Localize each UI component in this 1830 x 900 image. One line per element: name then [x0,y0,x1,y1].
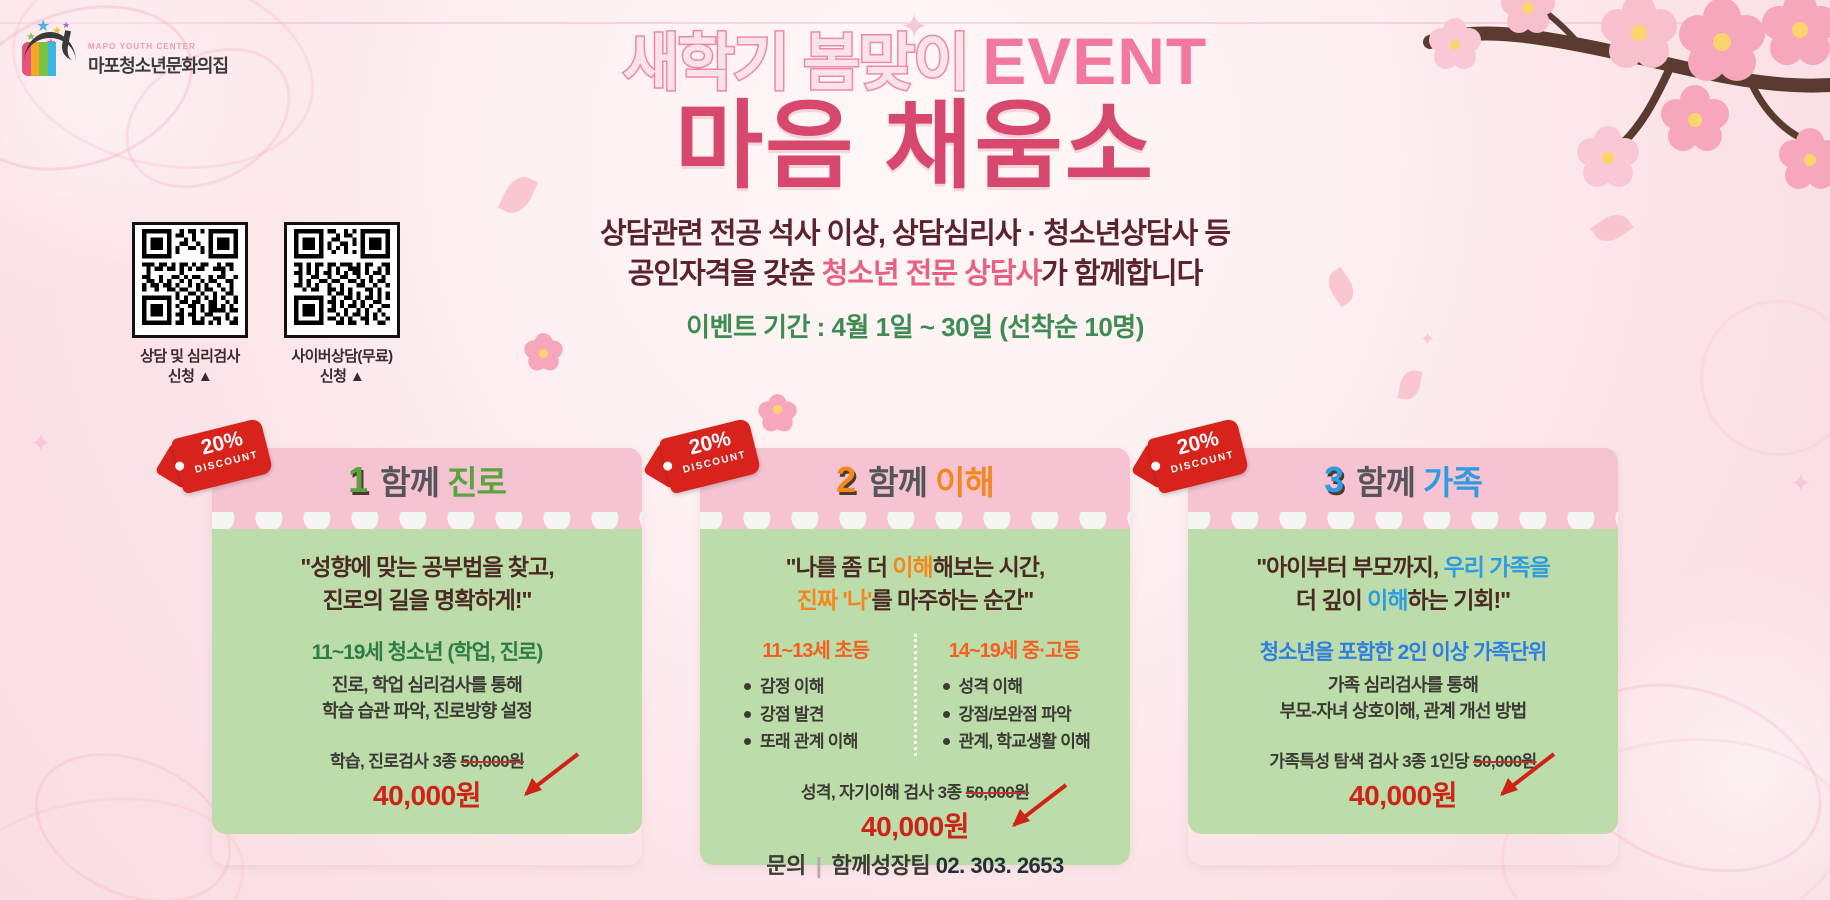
scallop-divider [1188,512,1618,529]
qr-code-block: 상담 및 심리검사 신청 ▲ [130,222,402,388]
card-title: 함께 진로 [380,456,506,504]
list-item: 관계, 학교생활 이해 [943,728,1109,756]
card-price-old: 50,000원 [966,783,1029,802]
card-quote-line1: "나를 좀 더 이해해보는 시간, [718,551,1112,584]
age-group-list: 성격 이해 강점/보완점 파악 관계, 학교생활 이해 [921,673,1109,756]
poster-root: ✦ ✦ ✦ ✦ [0,0,1830,900]
headline-event: EVENT [982,24,1207,98]
footer-separator: | [816,853,822,878]
card-target: 청소년을 포함한 2인 이상 가족단위 [1206,636,1600,666]
list-item: 강점 발견 [744,701,910,729]
list-item: 강점/보완점 파악 [943,701,1109,729]
card-price-new: 40,000원 [230,774,624,814]
footer-team: 함께성장팀 [831,853,930,878]
card-title-plain: 함께 [868,464,935,501]
cherry-blossom-icon [760,392,794,426]
subtitle-line2-post: 가 함께합니다 [1041,258,1202,290]
quote-part-b: 해보는 시간, [933,554,1045,580]
quote-part-a: "아이부터 부모까지, [1256,554,1443,580]
scallop-divider [700,512,1130,529]
card-price-old-row: 성격, 자기이해 검사 3종 50,000원 [718,778,1112,803]
card-number: 1 [348,462,368,498]
card-desc-line1: 가족 심리검사를 통해 [1206,672,1600,698]
qr-code-icon[interactable] [132,222,248,338]
card-description: 진로, 학업 심리검사를 통해 학습 습관 파악, 진로방향 설정 [230,672,624,724]
card-desc-line2: 학습 습관 파악, 진로방향 설정 [230,698,624,724]
card-quote-line2: 더 깊이 이해하는 기회!" [1206,584,1600,617]
card-body: "나를 좀 더 이해해보는 시간, 진짜 '나'를 마주하는 순간" 11~13… [700,529,1130,865]
card-price-label: 가족특성 탐색 검사 3종 1인당 [1269,752,1473,771]
age-group-elementary: 11~13세 초등 감정 이해 강점 발견 또래 관계 이해 [718,634,914,756]
card-number: 2 [836,462,856,498]
quote-part-b: 를 마주하는 순간" [872,587,1034,613]
card-desc-line2: 부모-자녀 상호이해, 관계 개선 방법 [1206,698,1600,724]
qr-caption-line2: 신청 ▲ [282,367,402,387]
headline-line1: 새학기 봄맞이EVENT [0,28,1830,95]
card-title-accent: 가족 [1423,464,1482,501]
program-card-3[interactable]: 20% DISCOUNT 3 함께 가족 "아이부터 부모까지, 우리 가족을 … [1188,448,1618,865]
card-header: 2 함께 이해 [700,448,1130,512]
card-title: 함께 가족 [1356,456,1482,504]
qr-caption-line1: 사이버상담(무료) [282,347,402,367]
card-price-old: 50,000원 [461,752,524,771]
card-body: "성향에 맞는 공부법을 찾고, 진로의 길을 명확하게!" 11~19세 청소… [212,529,642,834]
qr-item-cyber-counseling[interactable]: 사이버상담(무료) 신청 ▲ [282,222,402,388]
card-price-label: 성격, 자기이해 검사 3종 [801,783,966,802]
qr-caption-line2: 신청 ▲ [130,367,250,387]
qr-caption: 사이버상담(무료) 신청 ▲ [282,347,402,388]
card-price-new: 40,000원 [1206,774,1600,814]
list-item: 성격 이해 [943,673,1109,701]
program-cards: 20% DISCOUNT 1 함께 진로 "성향에 맞는 공부법을 찾고, 진로… [0,448,1830,865]
card-price-old-row: 가족특성 탐색 검사 3종 1인당 50,000원 [1206,747,1600,772]
card-desc-line1: 진로, 학업 심리검사를 통해 [230,672,624,698]
age-group-header: 14~19세 중·고등 [921,634,1109,663]
quote-part-b: 하는 기회!" [1407,587,1510,613]
card-title-plain: 함께 [380,464,447,501]
card-title-plain: 함께 [1356,464,1423,501]
card-quote-line2: 진로의 길을 명확하게!" [230,584,624,617]
card-title: 함께 이해 [868,456,994,504]
footer-contact: 문의|함께성장팀 02. 303. 2653 [0,848,1830,880]
card-number: 3 [1324,462,1344,498]
poster-title: 마음 채움소 [0,97,1830,198]
qr-item-counseling[interactable]: 상담 및 심리검사 신청 ▲ [130,222,250,388]
card-price-new: 40,000원 [718,805,1112,845]
program-card-1[interactable]: 20% DISCOUNT 1 함께 진로 "성향에 맞는 공부법을 찾고, 진로… [212,448,642,865]
card-title-accent: 진로 [447,464,506,501]
quote-part-a: "나를 좀 더 [786,554,893,580]
age-group-middle-high: 14~19세 중·고등 성격 이해 강점/보완점 파악 관계, 학교생활 이해 [914,634,1113,756]
qr-caption: 상담 및 심리검사 신청 ▲ [130,347,250,388]
age-group-columns: 11~13세 초등 감정 이해 강점 발견 또래 관계 이해 14~19세 중·… [718,634,1112,756]
qr-code-icon[interactable] [284,222,400,338]
card-body: "아이부터 부모까지, 우리 가족을 더 깊이 이해하는 기회!" 청소년을 포… [1188,529,1618,834]
quote-highlight: 이해 [892,554,932,580]
card-price-old: 50,000원 [1473,752,1536,771]
card-quote: "성향에 맞는 공부법을 찾고, 진로의 길을 명확하게!" [230,551,624,616]
footer-label: 문의 [766,853,805,878]
list-item: 감정 이해 [744,673,910,701]
footer-phone: 02. 303. 2653 [936,853,1064,878]
card-header: 1 함께 진로 [212,448,642,512]
card-price-label: 학습, 진로검사 3종 [330,752,461,771]
qr-caption-line1: 상담 및 심리검사 [130,347,250,367]
card-price-old-row: 학습, 진로검사 3종 50,000원 [230,747,624,772]
card-quote-line2: 진짜 '나'를 마주하는 순간" [718,584,1112,617]
card-header: 3 함께 가족 [1188,448,1618,512]
subtitle-line2-pre: 공인자격을 갖춘 [628,258,822,290]
list-item: 또래 관계 이해 [744,728,910,756]
card-quote-line1: "성향에 맞는 공부법을 찾고, [230,551,624,584]
card-title-accent: 이해 [935,464,994,501]
scallop-divider [212,512,642,529]
card-quote: "나를 좀 더 이해해보는 시간, 진짜 '나'를 마주하는 순간" [718,551,1112,616]
quote-highlight: 이해 [1367,587,1407,613]
program-card-2[interactable]: 20% DISCOUNT 2 함께 이해 "나를 좀 더 이해해보는 시간, 진… [700,448,1130,865]
quote-part-a: 더 깊이 [1296,587,1367,613]
age-group-list: 감정 이해 강점 발견 또래 관계 이해 [722,673,910,756]
subtitle-line2-highlight: 청소년 전문 상담사 [822,258,1042,290]
card-quote: "아이부터 부모까지, 우리 가족을 더 깊이 이해하는 기회!" [1206,551,1600,616]
quote-highlight: 진짜 '나' [797,587,872,613]
quote-highlight: 우리 가족을 [1444,554,1550,580]
card-quote-line1: "아이부터 부모까지, 우리 가족을 [1206,551,1600,584]
headline-kr: 새학기 봄맞이 [623,29,968,98]
card-target: 11~19세 청소년 (학업, 진로) [230,636,624,666]
card-description: 가족 심리검사를 통해 부모-자녀 상호이해, 관계 개선 방법 [1206,672,1600,724]
age-group-header: 11~13세 초등 [722,634,910,663]
